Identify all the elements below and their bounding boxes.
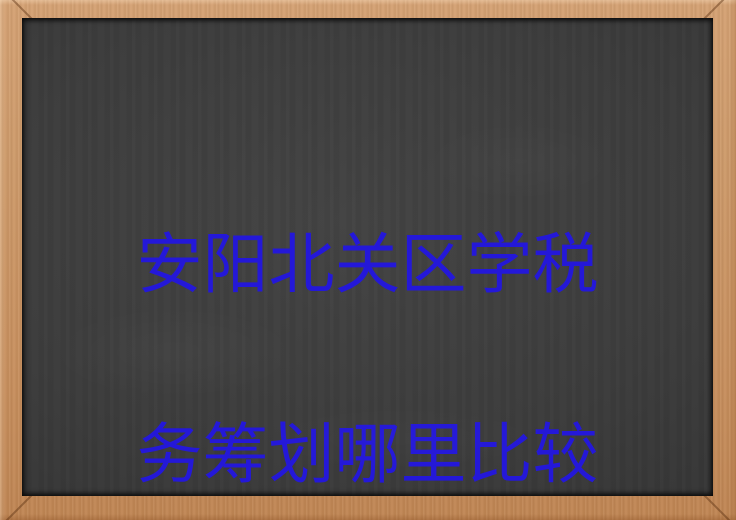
headline-line-1: 安阳北关区学税 — [22, 217, 713, 312]
headline-text-block: 安阳北关区学税 务筹划哪里比较 好名单榜首一览 — [22, 122, 713, 496]
chalkboard-surface: 安阳北关区学税 务筹划哪里比较 好名单榜首一览 — [22, 18, 713, 496]
frame-bottom-bevel-shadow — [0, 514, 736, 520]
frame-left-bevel-highlight — [0, 0, 5, 520]
headline-line-2: 务筹划哪里比较 — [22, 407, 713, 496]
wooden-picture-frame: 安阳北关区学税 务筹划哪里比较 好名单榜首一览 — [0, 0, 736, 520]
frame-top-bevel-highlight — [0, 0, 736, 5]
frame-right-bevel-shadow — [730, 0, 736, 520]
